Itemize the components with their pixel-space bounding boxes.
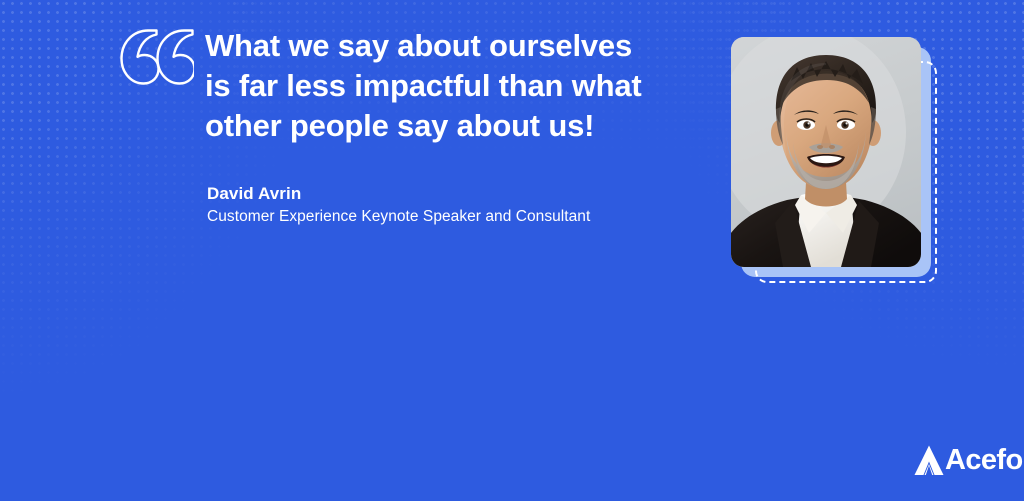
attribution: David Avrin Customer Experience Keynote …	[207, 182, 590, 229]
author-name: David Avrin	[207, 182, 590, 205]
portrait-card	[731, 37, 931, 277]
quote-line-2: is far less impactful than what	[205, 66, 685, 106]
acefone-triangle-icon	[914, 445, 944, 476]
acefone-logo: Acefone	[914, 445, 1024, 476]
portrait-photo	[731, 37, 921, 267]
quote-line-3: other people say about us!	[205, 106, 685, 146]
author-role: Customer Experience Keynote Speaker and …	[207, 205, 590, 229]
open-quote-icon	[118, 26, 194, 88]
quote-text: What we say about ourselves is far less …	[205, 26, 685, 146]
quote-card: What we say about ourselves is far less …	[0, 0, 1024, 501]
acefone-logo-text: Acefone	[945, 445, 1024, 476]
quote-line-1: What we say about ourselves	[205, 26, 685, 66]
